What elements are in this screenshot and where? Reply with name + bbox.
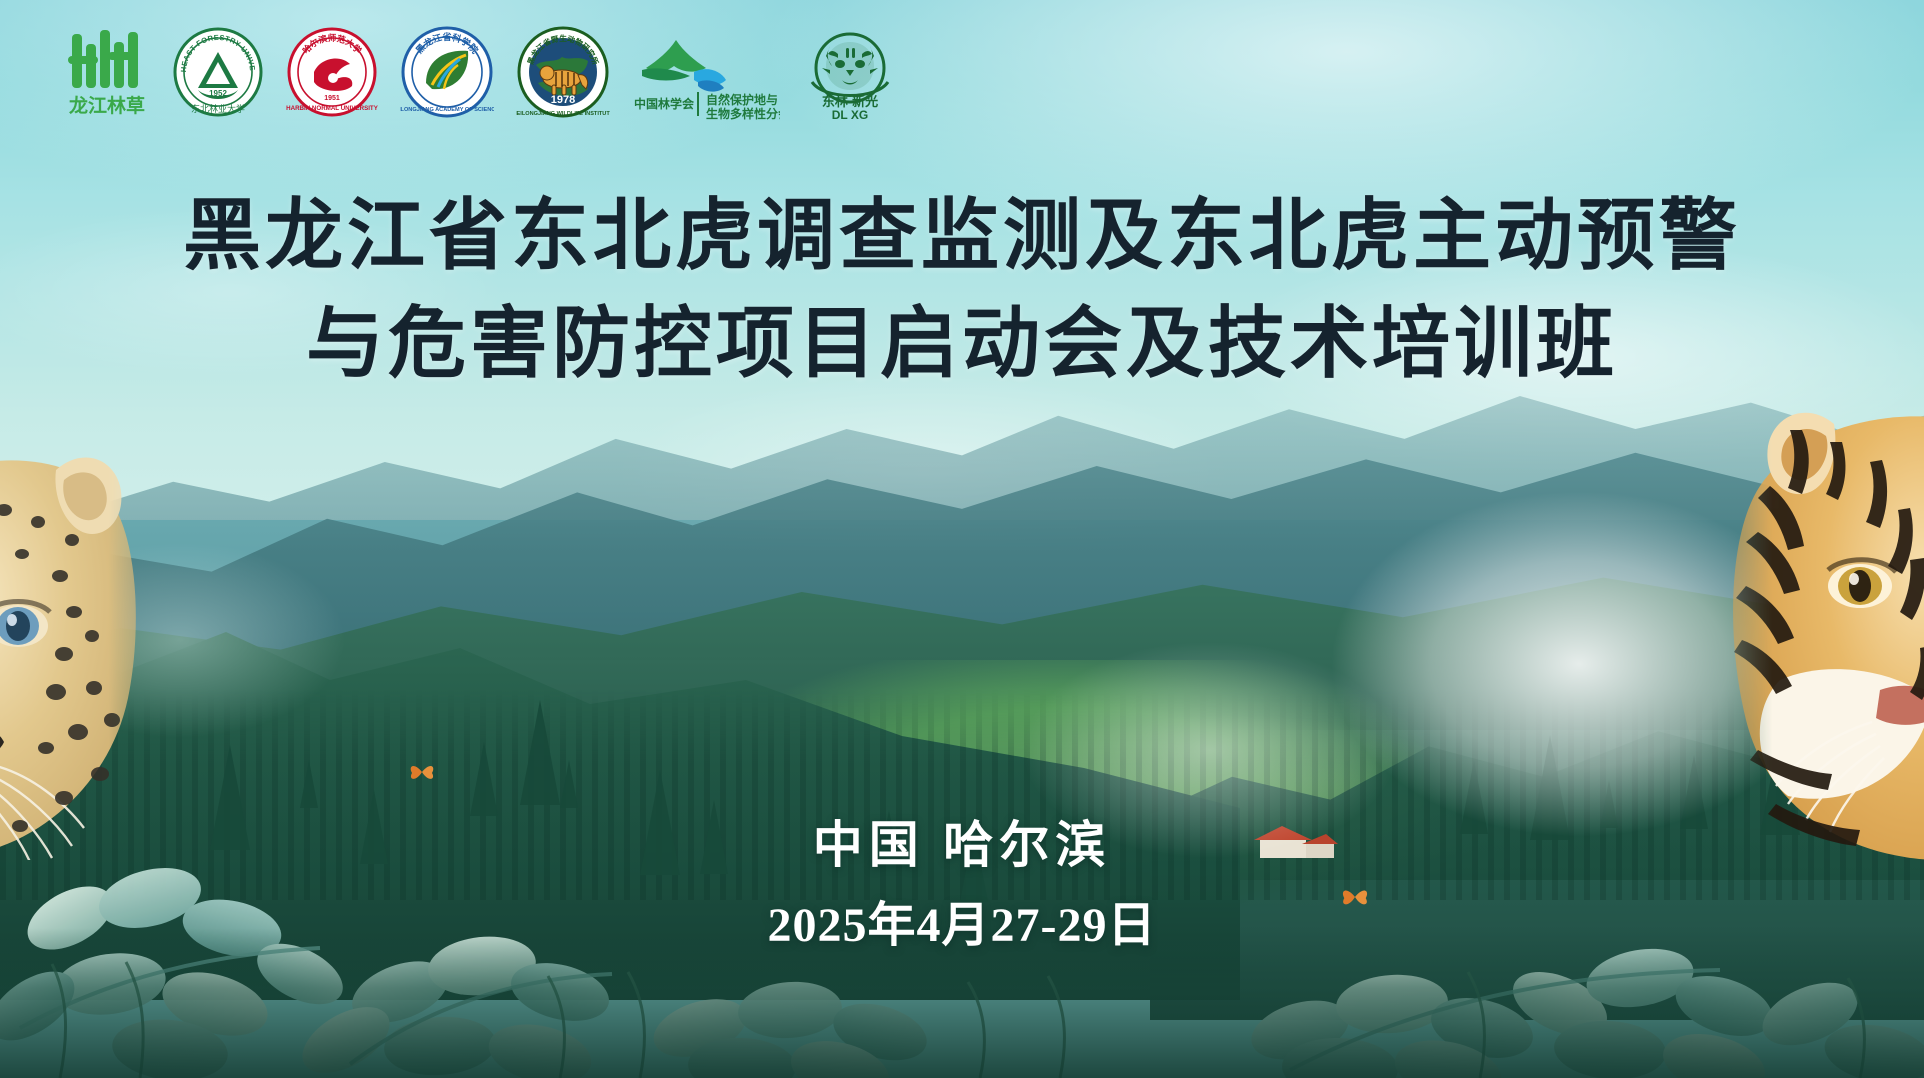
logo-caption-dlxg-cn: 东林·新光 — [822, 94, 878, 109]
logo-ring-en-hnu: HARBIN NORMAL UNIVERSITY — [286, 105, 378, 112]
forest-mark-icon: 龙江林草 — [64, 26, 150, 118]
logo-ring-cn-nefu: 东北林业大学 — [191, 103, 245, 114]
logo-year-nefu: 1952 — [209, 89, 227, 98]
leaf-seal-icon: 黑龙江省科学院 HEILONGJIANG ACADEMY OF SCIENCES — [400, 25, 494, 119]
logo-caption-csf-line1: 自然保护地与 — [706, 92, 778, 107]
logo-year-hwi: 1978 — [551, 94, 575, 106]
flame-seal-icon: 哈尔滨师范大学 1951 HARBIN NORMAL UNIVERSITY — [286, 26, 378, 118]
event-date: 2025年4月27-29日 — [0, 894, 1924, 958]
logo-csf-nature-reserve-biodiversity: 中国林学会 自然保护地与 生物多样性分会 — [632, 24, 780, 120]
sponsor-logo-bar: 龙江林草 1952 NORTHEAST FORESTRY UNIVERSITY … — [64, 22, 898, 122]
event-city: 中国 哈尔滨 — [0, 810, 1924, 880]
logo-ring-en-has: HEILONGJIANG ACADEMY OF SCIENCES — [400, 107, 494, 113]
logo-year-hnu: 1951 — [324, 95, 340, 102]
title-line-2: 与危害防控项目启动会及技术培训班 — [0, 290, 1924, 398]
logo-caption-longjiang: 龙江林草 — [69, 94, 145, 117]
tiger-globe-seal-icon: 1978 黑龙江省野生动物研究所 HEILONGJIANG WILDLIFE I… — [516, 25, 610, 119]
logo-caption-csf-line2: 生物多样性分会 — [706, 106, 780, 120]
logo-harbin-normal-university: 哈尔滨师范大学 1951 HARBIN NORMAL UNIVERSITY — [286, 24, 378, 120]
mountain-leaf-seal-icon: 1952 NORTHEAST FORESTRY UNIVERSITY 东北林业大… — [172, 26, 264, 118]
title-line-1: 黑龙江省东北虎调查监测及东北虎主动预警 — [0, 182, 1924, 290]
tiger-head-circle-icon: 东林·新光 DL XG — [802, 24, 898, 120]
logo-donglin-xinguang: 东林·新光 DL XG — [802, 24, 898, 120]
mountain-water-icon: 中国林学会 自然保护地与 生物多样性分会 — [632, 24, 780, 120]
logo-northeast-forestry-university: 1952 NORTHEAST FORESTRY UNIVERSITY 东北林业大… — [172, 24, 264, 120]
logo-caption-dlxg-en: DL XG — [832, 108, 868, 120]
logo-heilongjiang-academy-of-sciences: 黑龙江省科学院 HEILONGJIANG ACADEMY OF SCIENCES — [400, 24, 494, 120]
poster-title: 黑龙江省东北虎调查监测及东北虎主动预警 与危害防控项目启动会及技术培训班 — [0, 182, 1924, 398]
logo-ring-en-hwi: HEILONGJIANG WILDLIFE INSTITUTE — [516, 111, 610, 117]
logo-caption-csf: 中国林学会 — [634, 96, 695, 111]
poster-footer: 中国 哈尔滨 2025年4月27-29日 — [0, 810, 1924, 958]
logo-longjiang-lincao: 龙江林草 — [64, 24, 150, 120]
butterfly-icon — [408, 760, 436, 784]
logo-heilongjiang-wildlife-institute: 1978 黑龙江省野生动物研究所 HEILONGJIANG WILDLIFE I… — [516, 24, 610, 120]
conference-poster: 龙江林草 1952 NORTHEAST FORESTRY UNIVERSITY … — [0, 0, 1924, 1078]
